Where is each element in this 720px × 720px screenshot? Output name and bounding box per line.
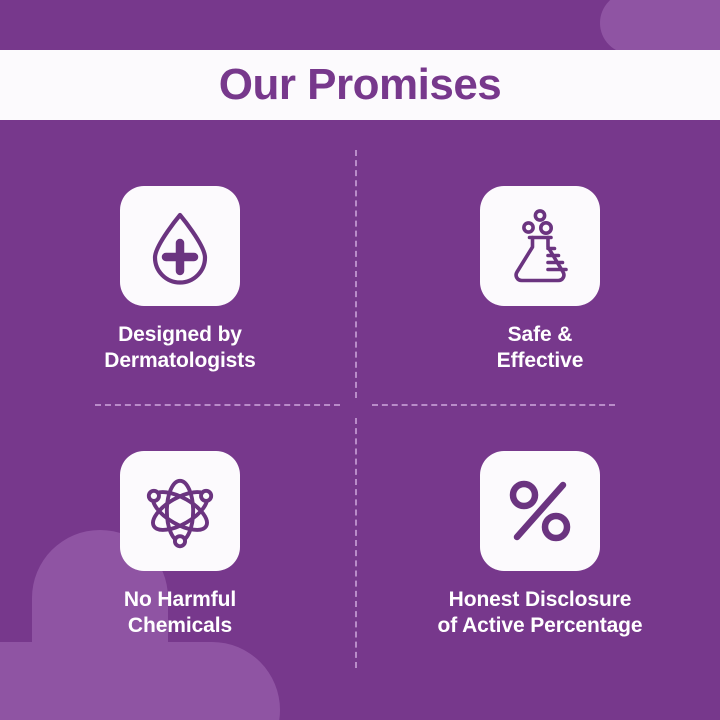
promise-item-designed-by-dermatologists: Designed by Dermatologists xyxy=(0,150,360,415)
promise-item-safe-effective: Safe & Effective xyxy=(360,150,720,415)
percent-icon xyxy=(505,476,575,546)
promise-icon-card xyxy=(120,451,240,571)
promise-label: No Harmful Chemicals xyxy=(124,587,236,640)
promise-label: Honest Disclosure of Active Percentage xyxy=(438,587,643,640)
promise-item-honest-disclosure: Honest Disclosure of Active Percentage xyxy=(360,415,720,680)
title-banner: Our Promises xyxy=(0,50,720,120)
cross-horizontal-bar xyxy=(600,0,720,54)
promise-label: Safe & Effective xyxy=(497,322,584,375)
atom-icon xyxy=(142,473,218,549)
page-title: Our Promises xyxy=(219,63,502,107)
droplet-plus-icon xyxy=(141,207,219,285)
promise-item-no-harmful-chemicals: No Harmful Chemicals xyxy=(0,415,360,680)
promises-grid: Designed by Dermatologists Safe & Effect… xyxy=(0,150,720,680)
promise-icon-card xyxy=(480,451,600,571)
promise-icon-card xyxy=(480,186,600,306)
promises-poster: Our Promises Designed by Dermatologists xyxy=(0,0,720,720)
promise-icon-card xyxy=(120,186,240,306)
promise-label: Designed by Dermatologists xyxy=(104,322,255,375)
flask-bubbles-icon xyxy=(501,207,579,285)
